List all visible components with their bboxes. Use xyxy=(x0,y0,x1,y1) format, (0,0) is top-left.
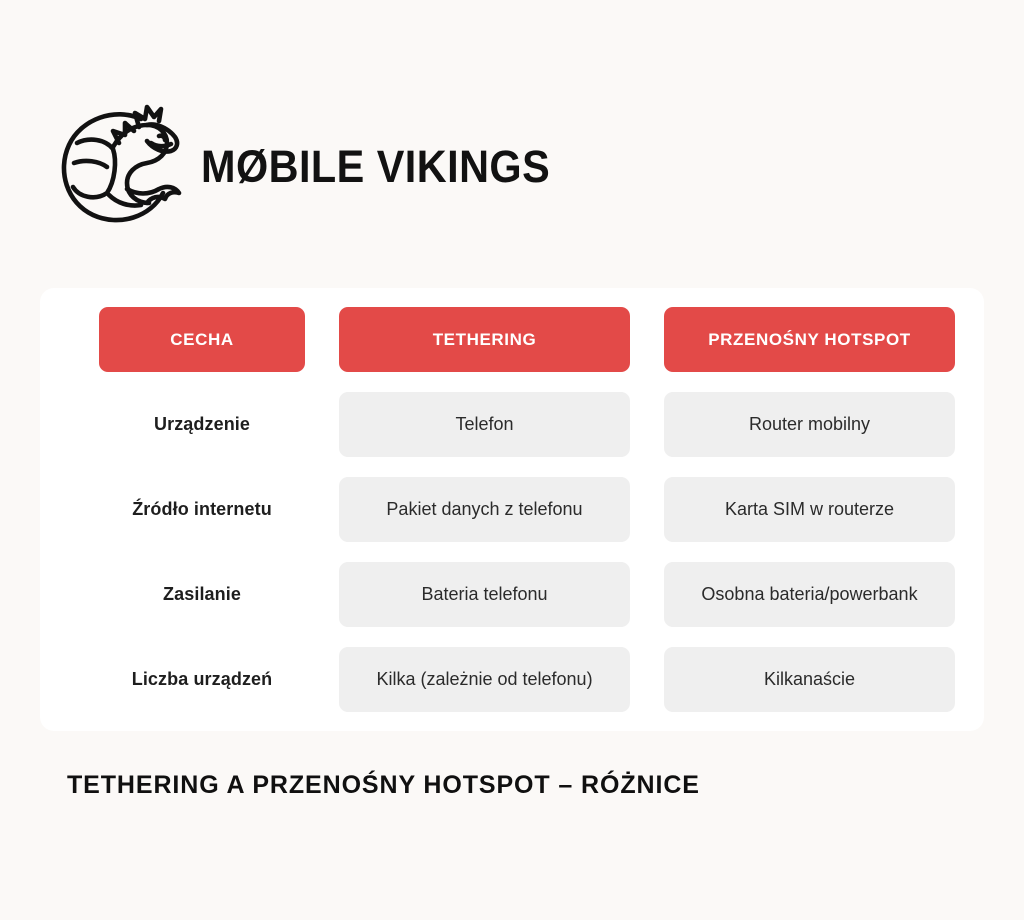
row-value-hotspot: Router mobilny xyxy=(664,392,955,457)
row-label: Źródło internetu xyxy=(99,477,305,542)
row-value-hotspot: Karta SIM w routerze xyxy=(664,477,955,542)
row-label: Urządzenie xyxy=(99,392,305,457)
row-value-tethering: Pakiet danych z telefonu xyxy=(339,477,630,542)
comparison-card: CECHA TETHERING PRZENOŚNY HOTSPOT Urządz… xyxy=(40,288,984,731)
table-row: Zasilanie Bateria telefonu Osobna bateri… xyxy=(99,562,950,627)
row-value-hotspot: Kilkanaście xyxy=(664,647,955,712)
row-value-tethering: Kilka (zależnie od telefonu) xyxy=(339,647,630,712)
header-cell-feature: CECHA xyxy=(99,307,305,372)
row-value-tethering: Telefon xyxy=(339,392,630,457)
table-header-row: CECHA TETHERING PRZENOŚNY HOTSPOT xyxy=(99,307,950,372)
brand-logo: MØBILE VIKINGS xyxy=(55,103,581,229)
row-value-tethering: Bateria telefonu xyxy=(339,562,630,627)
header-cell-hotspot: PRZENOŚNY HOTSPOT xyxy=(664,307,955,372)
row-value-hotspot: Osobna bateria/powerbank xyxy=(664,562,955,627)
comparison-table: CECHA TETHERING PRZENOŚNY HOTSPOT Urządz… xyxy=(99,307,950,712)
brand-wordmark: MØBILE VIKINGS xyxy=(201,144,550,189)
table-row: Urządzenie Telefon Router mobilny xyxy=(99,392,950,457)
page-caption: TETHERING A PRZENOŚNY HOTSPOT – RÓŻNICE xyxy=(67,771,700,800)
row-label: Zasilanie xyxy=(99,562,305,627)
row-label: Liczba urządzeń xyxy=(99,647,305,712)
viking-dragon-circle-icon xyxy=(55,103,183,229)
table-row: Źródło internetu Pakiet danych z telefon… xyxy=(99,477,950,542)
page-root: MØBILE VIKINGS CECHA TETHERING PRZENOŚNY… xyxy=(0,0,1024,920)
table-row: Liczba urządzeń Kilka (zależnie od telef… xyxy=(99,647,950,712)
header-cell-tethering: TETHERING xyxy=(339,307,630,372)
